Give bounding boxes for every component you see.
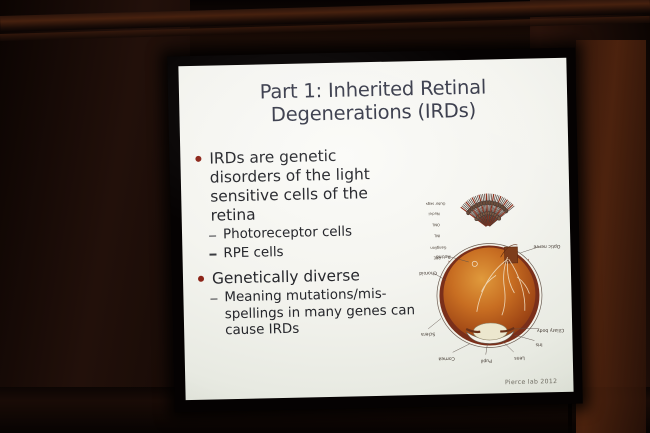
slide-title-line-2: Degenerations (IRDs) (193, 98, 553, 129)
slide-title: Part 1: Inherited Retinal Degenerations … (193, 75, 554, 128)
svg-text:Choroid: Choroid (419, 270, 437, 276)
eye-anatomy-figure: Light Outer segs Nuclei ONL INL Ganglion… (410, 134, 567, 387)
bullet-dot-icon (195, 156, 201, 162)
sub-bullet-item: Meaning mutations/mis-spellings in many … (197, 286, 416, 340)
bullet-dot-icon (198, 276, 204, 282)
svg-text:Ganglion: Ganglion (430, 245, 446, 249)
svg-text:Pupil: Pupil (481, 357, 492, 363)
sub-bullet-text: Photoreceptor cells (223, 225, 352, 243)
slide-body: IRDs are genetic disorders of the light … (194, 145, 416, 341)
projection-screen: Part 1: Inherited Retinal Degenerations … (167, 48, 583, 413)
bullet-text: Genetically diverse (212, 267, 360, 288)
sub-bullet-text: RPE cells (223, 245, 283, 261)
bullet-item: Genetically diverse (197, 265, 415, 289)
figure-credit: Pierce lab 2012 (505, 378, 557, 386)
sub-bullet-item: Photoreceptor cells (196, 223, 414, 244)
svg-text:Outer segs: Outer segs (426, 201, 446, 205)
svg-text:Ciliary body: Ciliary body (537, 327, 565, 334)
dash-icon (209, 254, 216, 256)
svg-text:Lens: Lens (514, 355, 525, 361)
bullet-text: IRDs are genetic disorders of the light … (209, 147, 370, 225)
svg-text:INL: INL (434, 234, 440, 238)
svg-text:ONL: ONL (432, 223, 440, 227)
dash-icon (210, 298, 217, 300)
svg-text:Retina: Retina (436, 253, 451, 259)
wood-panel-column (576, 40, 646, 433)
sub-bullet-text: Meaning mutations/mis-spellings in many … (224, 287, 415, 339)
svg-text:Iris: Iris (535, 341, 543, 347)
svg-text:Sclera: Sclera (421, 331, 436, 337)
presentation-slide: Part 1: Inherited Retinal Degenerations … (178, 58, 573, 400)
svg-text:Optic nerve: Optic nerve (533, 243, 560, 250)
retina-layer-labels: Outer segs Nuclei ONL INL Ganglion RPE (426, 201, 447, 259)
wall-left (0, 0, 190, 433)
svg-text:Nuclei: Nuclei (428, 212, 439, 216)
bullet-item: IRDs are genetic disorders of the light … (194, 145, 414, 226)
dash-icon (209, 235, 216, 237)
svg-text:Cornea: Cornea (438, 355, 455, 361)
eye-globe (436, 242, 543, 348)
